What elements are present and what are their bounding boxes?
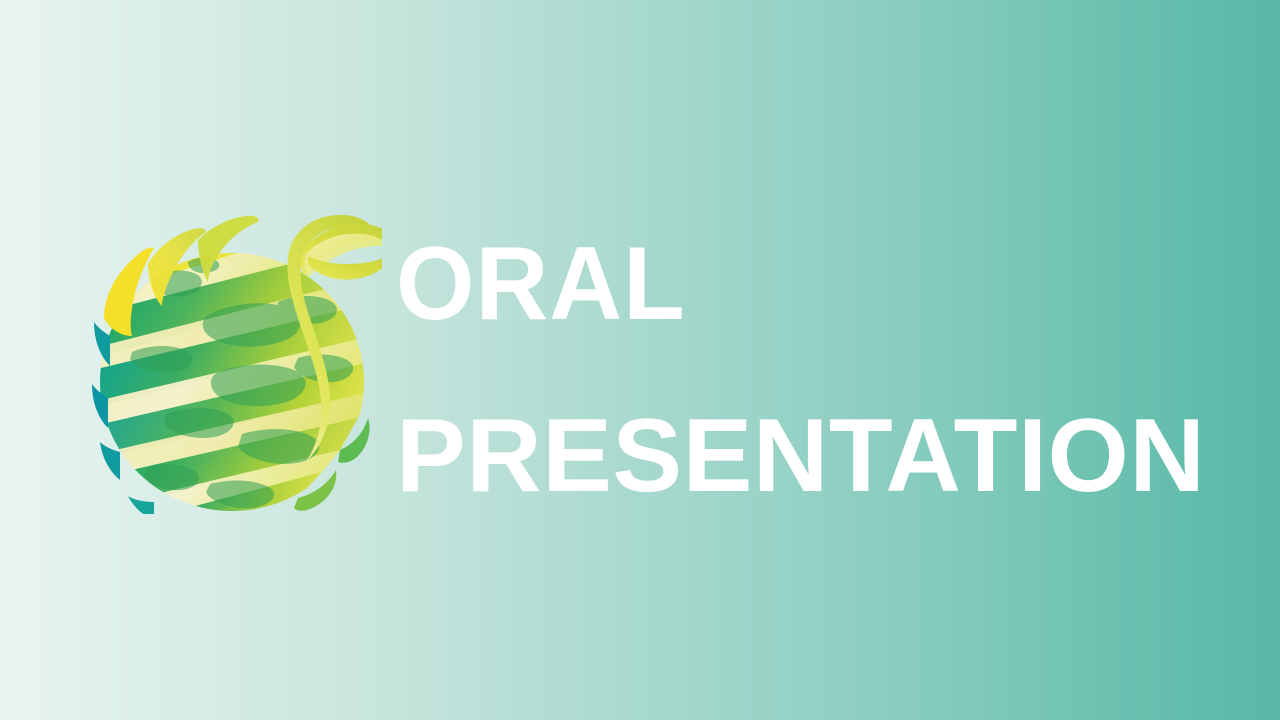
presentation-slide: ORAL PRESENTATION <box>0 0 1280 720</box>
page-title-line-2: PRESENTATION <box>396 404 1200 508</box>
globe-leaf-logo <box>92 206 382 514</box>
slide-title-block: ORAL PRESENTATION <box>396 232 1196 508</box>
page-title-line-1: ORAL <box>396 232 1172 336</box>
